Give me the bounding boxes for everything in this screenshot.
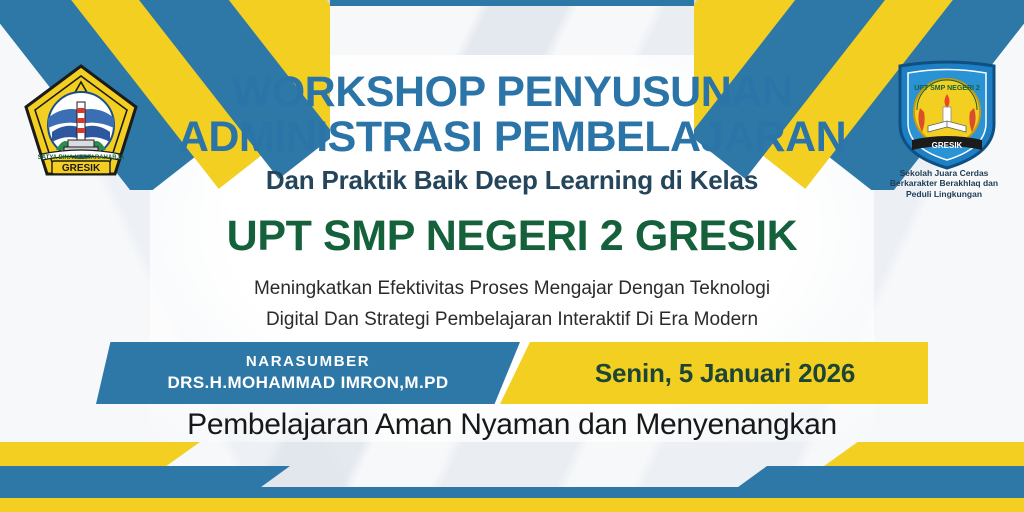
school-logo: UPT SMP NEGERI 2 GRESIK: [892, 58, 1002, 170]
school-logo-caption: Sekolah Juara Cerdas Berkarakter Berakhl…: [874, 168, 1014, 199]
title-line-2: ADMINISTRASI PEMBELAJARAN: [150, 115, 874, 160]
angled-bar-yellow: [0, 442, 200, 466]
school-caption-line-3: Peduli Lingkungan: [874, 189, 1014, 199]
gresik-regency-logo: SATYA BINA KERTARAHARJA GRESIK: [22, 62, 140, 180]
description-line-1: Meningkatkan Efektivitas Proses Mengajar…: [150, 275, 874, 303]
school-logo-ribbon-text: GRESIK: [932, 141, 963, 150]
banner-subtitle: Dan Praktik Baik Deep Learning di Kelas: [150, 165, 874, 196]
event-date: Senin, 5 Januari 2026: [573, 358, 855, 389]
school-caption-line-1: Sekolah Juara Cerdas: [874, 168, 1014, 178]
bottom-edge-blue-stripe: [0, 487, 1024, 498]
title-line-1: WORKSHOP PENYUSUNAN: [150, 70, 874, 115]
gresik-logo-caption: GRESIK: [62, 163, 101, 174]
event-banner: SATYA BINA KERTARAHARJA GRESIK UPT SMP N…: [0, 0, 1024, 512]
date-bar: Senin, 5 Januari 2026: [500, 342, 928, 404]
speaker-role-label: NARASUMBER: [246, 353, 370, 370]
description-line-2: Digital Dan Strategi Pembelajaran Intera…: [150, 306, 874, 334]
school-logo-ring-text: UPT SMP NEGERI 2: [914, 85, 980, 92]
school-caption-line-2: Berkarakter Berakhlaq dan: [874, 178, 1014, 188]
speaker-date-row: NARASUMBER DRS.H.MOHAMMAD IMRON,M.PD Sen…: [96, 342, 928, 404]
gresik-logo-motto: SATYA BINA KERTARAHARJA: [38, 155, 125, 161]
banner-tagline: Pembelajaran Aman Nyaman dan Menyenangka…: [0, 408, 1024, 442]
angled-bar-yellow: [824, 442, 1024, 466]
speaker-bar: NARASUMBER DRS.H.MOHAMMAD IMRON,M.PD: [96, 342, 520, 404]
speaker-name: DRS.H.MOHAMMAD IMRON,M.PD: [167, 373, 448, 393]
banner-text-block: WORKSHOP PENYUSUNAN ADMINISTRASI PEMBELA…: [150, 70, 874, 334]
school-name-heading: UPT SMP NEGERI 2 GRESIK: [150, 212, 874, 261]
bottom-edge-yellow-stripe: [0, 498, 1024, 512]
